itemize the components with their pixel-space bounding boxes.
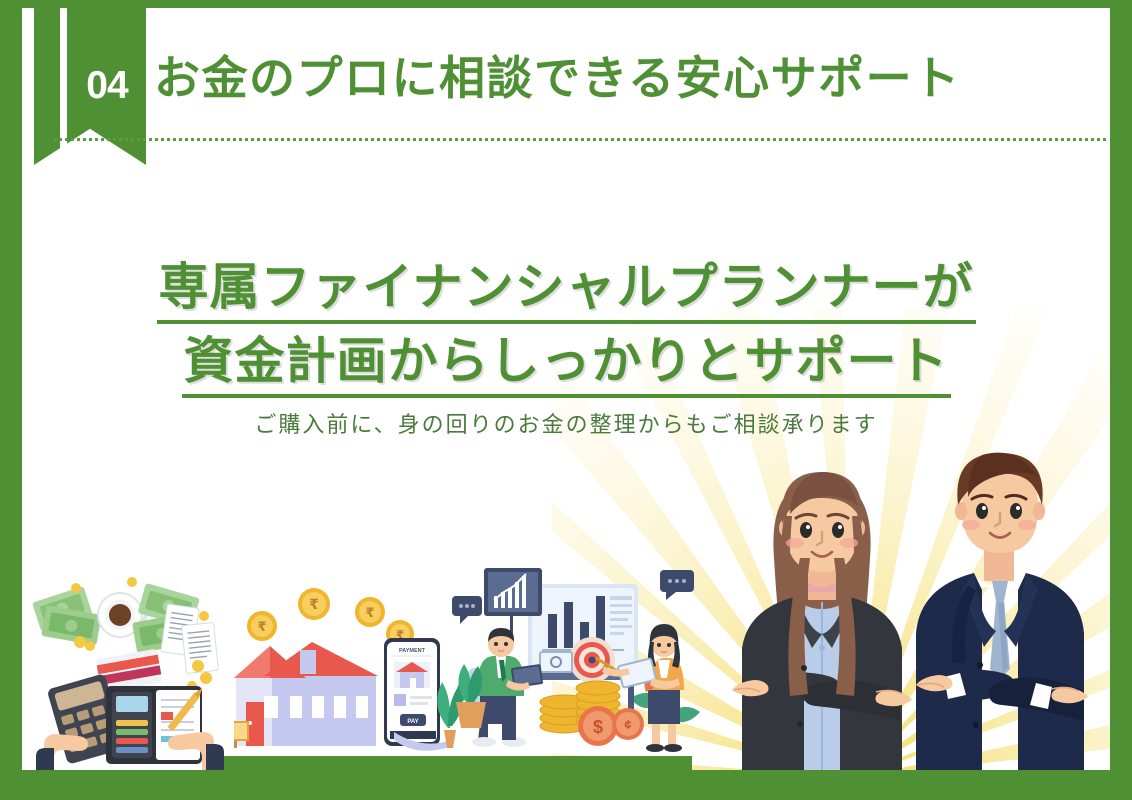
headline-line-2: 資金計画からしっかりとサポート bbox=[182, 330, 951, 398]
ribbon-notch bbox=[60, 8, 67, 165]
office-consulting-scene: $ ¢ bbox=[452, 548, 702, 758]
documents-icon bbox=[161, 604, 219, 674]
phone-payment-label: PAYMENT bbox=[399, 648, 426, 654]
chat-bubble-right-icon bbox=[660, 570, 694, 600]
smartphone-icon: PAYMENT PAY bbox=[384, 638, 440, 746]
svg-text:$: $ bbox=[593, 717, 603, 737]
svg-text:₹: ₹ bbox=[309, 596, 319, 612]
female-advisor-figure bbox=[722, 440, 922, 770]
house-payment-scene: ₹ ₹ ₹ ₹ bbox=[234, 568, 464, 758]
wallet-icon bbox=[106, 686, 202, 764]
illustration-strip: ₹ ₹ ₹ ₹ bbox=[22, 540, 1110, 770]
header: 04 お金のプロに相談できる安心サポート bbox=[22, 8, 1110, 138]
ribbon-number: 04 bbox=[68, 66, 146, 105]
house-icon bbox=[234, 642, 378, 746]
banknotes-icon bbox=[32, 586, 102, 645]
svg-text:¢: ¢ bbox=[624, 717, 631, 732]
headline-block: 専属ファイナンシャルプランナーが 資金計画からしっかりとサポート bbox=[22, 256, 1110, 398]
slide-frame: 04 お金のプロに相談できる安心サポート 専属ファイナンシャルプランナーが 資金… bbox=[0, 0, 1132, 800]
headline-line-1: 専属ファイナンシャルプランナーが bbox=[157, 256, 976, 324]
ground-bar bbox=[212, 756, 692, 770]
phone-pay-button: PAY bbox=[407, 719, 418, 725]
slide-canvas: 04 お金のプロに相談できる安心サポート 専属ファイナンシャルプランナーが 資金… bbox=[22, 8, 1110, 770]
chat-bubble-left-icon bbox=[452, 596, 482, 624]
svg-text:₹: ₹ bbox=[365, 605, 374, 620]
header-divider bbox=[54, 138, 1106, 141]
male-advisor-figure bbox=[902, 425, 1102, 770]
desk-money-scene bbox=[28, 570, 253, 770]
svg-text:₹: ₹ bbox=[257, 619, 266, 634]
page-title: お金のプロに相談できる安心サポート bbox=[154, 55, 961, 101]
desk-monitor-icon bbox=[540, 652, 572, 672]
